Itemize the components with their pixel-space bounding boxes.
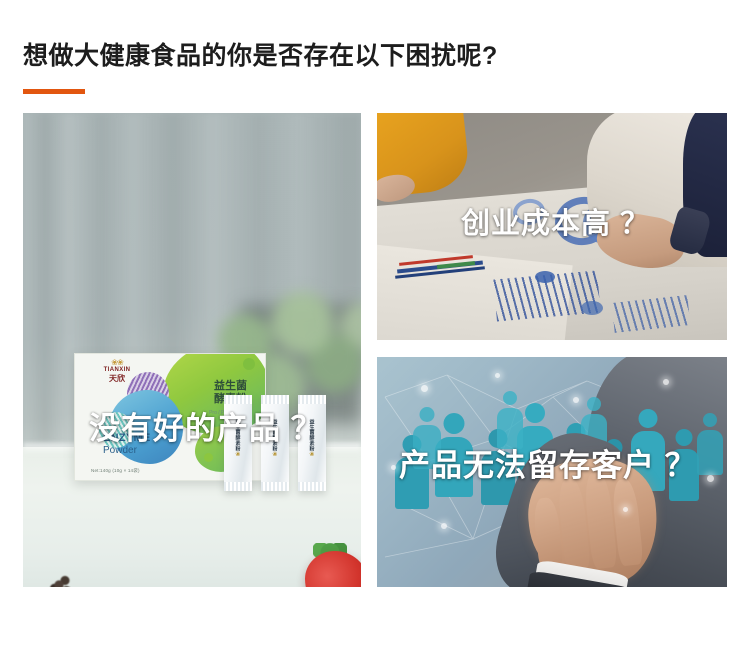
product-name-cn-line1: 益生菌 <box>214 380 247 393</box>
box-dot-green-small <box>204 453 213 462</box>
caption-cannot-retain-customers: 产品无法留存客户 ？ <box>399 450 697 481</box>
product-name-en-line2: Powder <box>103 445 151 457</box>
person-head <box>703 413 717 427</box>
brand-logo: ❀❀ TIANXIN 天欣 <box>89 359 145 383</box>
title-underline-rule <box>23 89 85 94</box>
person-head <box>503 391 517 405</box>
sachet-logo-icon: ❀ <box>235 451 240 458</box>
network-node-glow <box>573 397 579 403</box>
person-body <box>497 408 523 449</box>
network-node-glow <box>663 379 669 385</box>
caption-no-good-product: 没有好的产品 ？ <box>89 413 323 444</box>
panel-no-good-product[interactable]: ❀❀ TIANXIN 天欣 益生菌 酵素粉 Pro / Probiotics E… <box>23 113 361 587</box>
sachet-logo-icon: ❀ <box>272 451 277 458</box>
sachet-crimp-bottom <box>261 482 289 491</box>
network-node-glow <box>623 507 628 512</box>
person-icon <box>697 413 723 475</box>
box-dot-green <box>243 358 255 370</box>
person-head <box>420 407 435 422</box>
product-net-weight: Net:140g (10g × 14袋) <box>91 468 140 474</box>
person-head <box>525 403 545 423</box>
chart-dot <box>581 301 603 315</box>
panel-startup-cost-high[interactable]: 创业成本高 ？ <box>377 113 727 340</box>
brand-name-en: TIANXIN <box>89 367 145 374</box>
network-node-glow <box>707 475 714 482</box>
network-node-glow <box>495 373 500 378</box>
person-head <box>587 397 601 411</box>
person-head <box>676 429 693 446</box>
brand-name-cn: 天欣 <box>89 374 145 383</box>
page-title: 想做大健康食品的你是否存在以下困扰呢? <box>23 44 498 69</box>
person-head <box>639 409 658 428</box>
sachet-crimp-top <box>224 395 252 404</box>
panel-cannot-retain-customers[interactable]: 产品无法留存客户 ？ <box>377 357 727 587</box>
caption-startup-cost-high: 创业成本高 ？ <box>461 210 650 239</box>
sachet-crimp-bottom <box>298 482 326 491</box>
sachet-crimp-top <box>298 395 326 404</box>
person-body <box>697 430 723 475</box>
network-node-glow <box>441 523 447 529</box>
network-node-glow <box>391 465 396 470</box>
logo-plant-icon: ❀❀ <box>89 359 145 367</box>
person-head <box>444 413 465 434</box>
chart-dot <box>535 271 555 283</box>
sachet-crimp-top <box>261 395 289 404</box>
pinecone-decoration <box>47 573 77 587</box>
page-header: 想做大健康食品的你是否存在以下困扰呢? <box>0 0 750 113</box>
sachet-crimp-bottom <box>224 482 252 491</box>
sachet-logo-icon: ❀ <box>309 451 314 458</box>
network-node-glow <box>421 385 428 392</box>
person-icon <box>497 391 523 449</box>
